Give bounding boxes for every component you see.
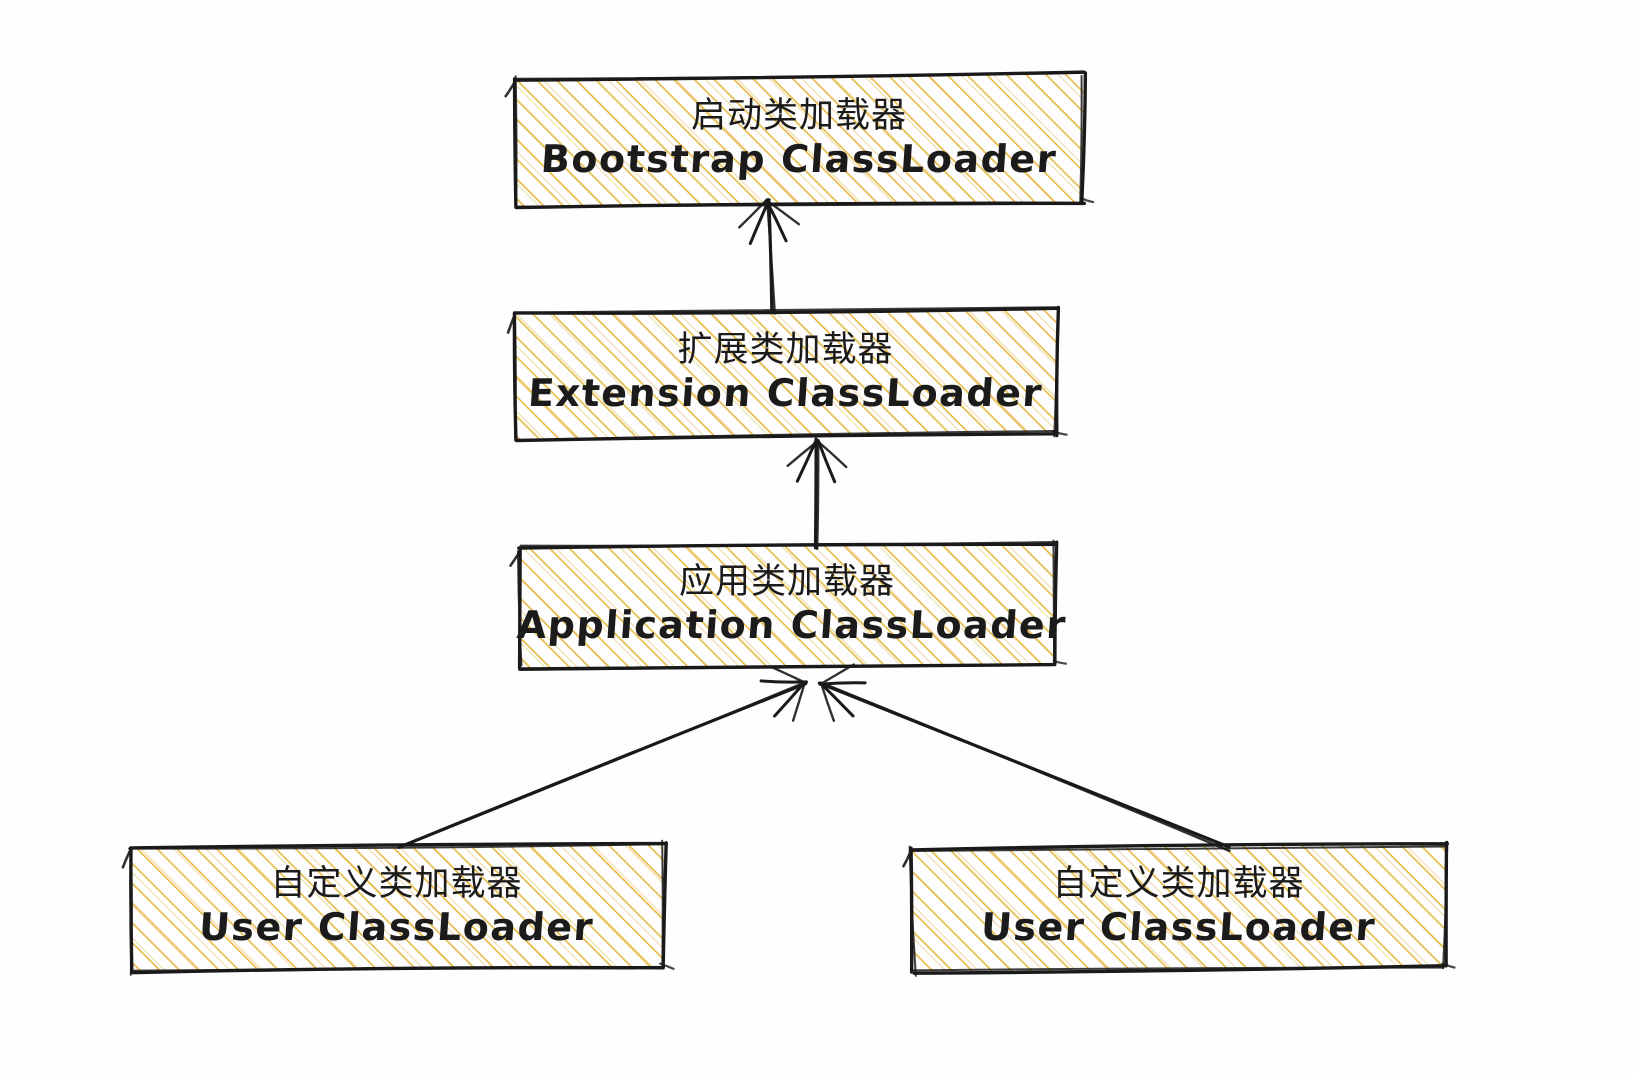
node-box (508, 307, 1067, 440)
edge-arrow (399, 667, 807, 847)
node-box (506, 72, 1094, 208)
node-box (903, 842, 1454, 976)
edge-arrow (739, 199, 799, 313)
node-box (123, 841, 674, 975)
sketch-canvas (0, 0, 1636, 1074)
edge-arrow (788, 439, 847, 549)
edge-arrow (819, 665, 1229, 851)
node-box (511, 541, 1067, 670)
classloader-hierarchy-diagram: 启动类加载器 Bootstrap ClassLoader 扩展类加载器 Exte… (0, 0, 1636, 1074)
